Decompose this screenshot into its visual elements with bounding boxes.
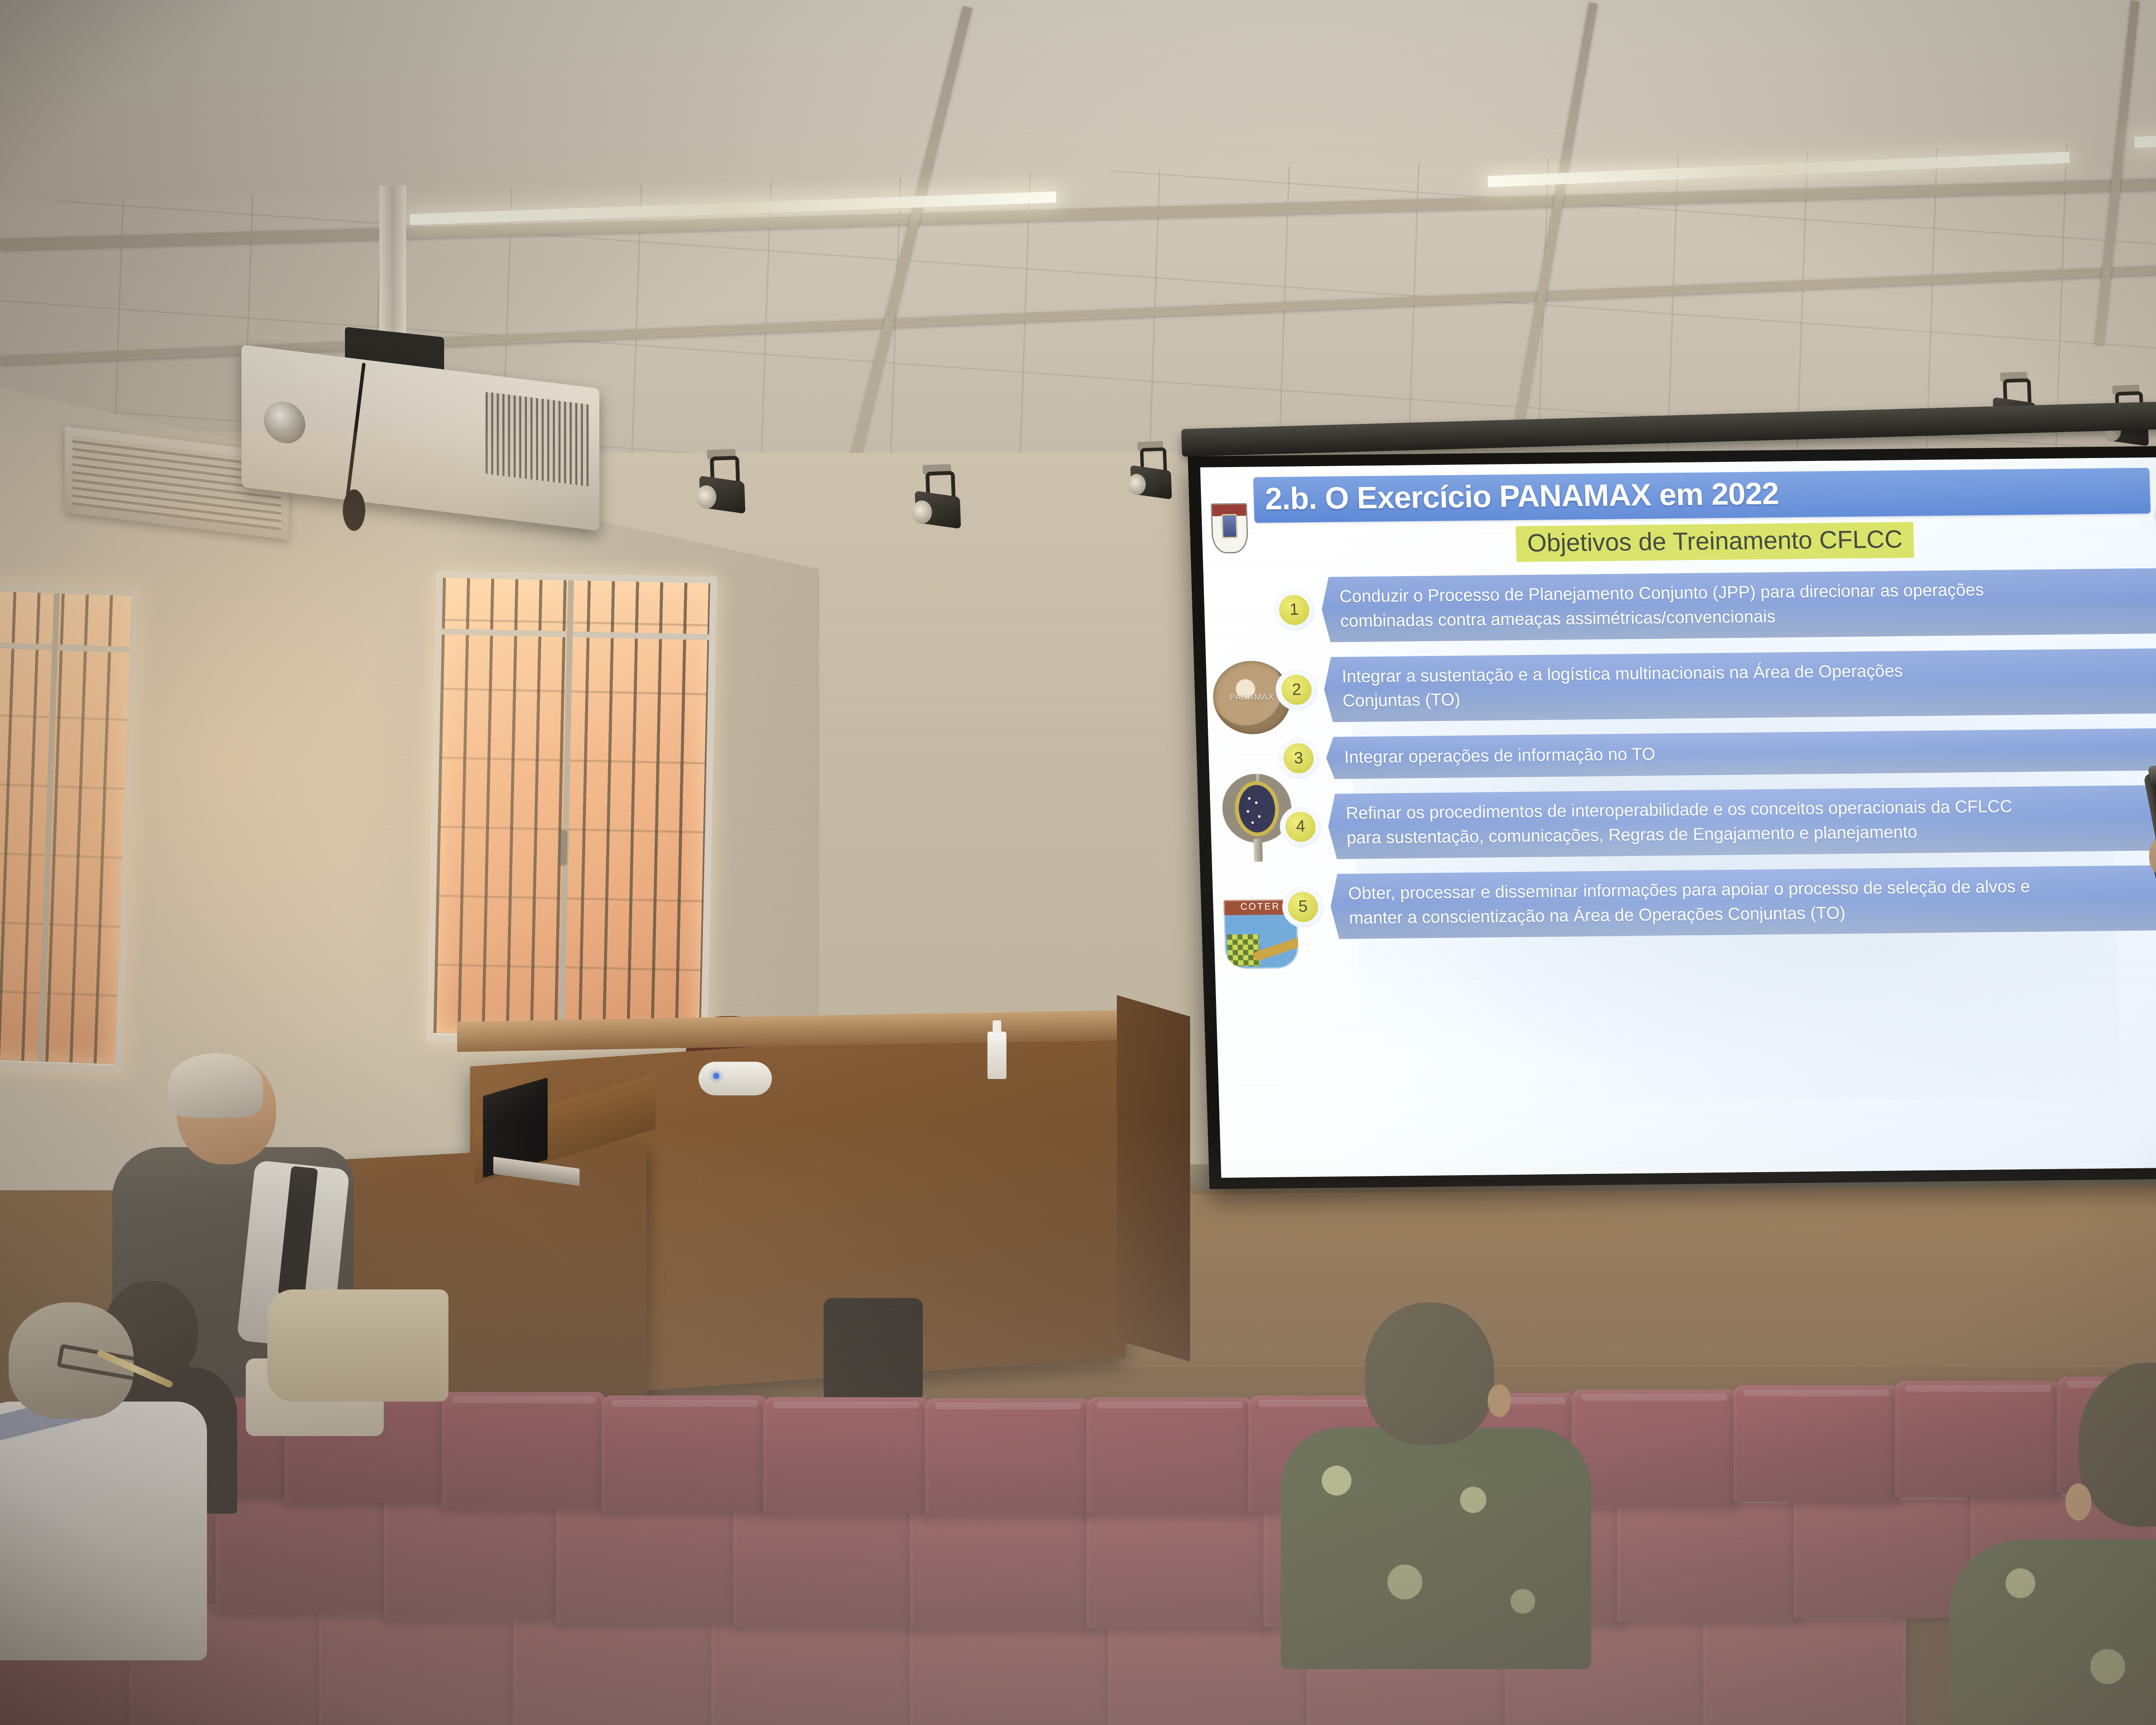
camouflage-uniform — [1281, 1427, 1591, 1669]
window-left-far — [0, 584, 138, 1073]
window-left-main — [426, 571, 718, 1047]
bullet-number: 2 — [1281, 674, 1312, 705]
auditorium-seat[interactable] — [1087, 1397, 1253, 1514]
auditorium-seat[interactable] — [602, 1396, 768, 1512]
bullet-text-bar: Refinar os procedimentos de interoperabi… — [1327, 785, 2156, 859]
attendee-khaki-sleeve — [267, 1289, 448, 1402]
auditorium-seat[interactable] — [733, 1497, 918, 1627]
bullet-number: 5 — [1288, 891, 1319, 922]
auditorium-seat[interactable] — [925, 1398, 1091, 1515]
auditorium-seat[interactable] — [763, 1397, 929, 1514]
window-latch[interactable] — [560, 830, 567, 865]
soldier-ear-left — [2065, 1483, 2091, 1521]
projector-vent-grill — [486, 392, 589, 486]
auditorium-seat[interactable] — [513, 1606, 714, 1725]
slide-bullet-item: 2 Integrar a sustentação e a logística m… — [1316, 648, 2156, 722]
slide-title-bar: 2.b. O Exercício PANAMAX em 2022 — [1253, 468, 2150, 523]
seated-soldier-right — [1958, 1402, 2156, 1725]
coter-checker-pattern — [1227, 934, 1260, 966]
slide-bullet-item: 1 Conduzir o Processo de Planejamento Co… — [1314, 568, 2156, 643]
bullet-line-1: Integrar operações de informação no TO — [1344, 737, 2156, 770]
seated-attendee-white-shirt — [0, 1302, 285, 1690]
open-laptop[interactable] — [483, 1087, 573, 1182]
auditorium-seat[interactable] — [442, 1392, 606, 1509]
slide-title: 2.b. O Exercício PANAMAX em 2022 — [1264, 477, 1779, 516]
bullet-text-bar: Obter, processar e disseminar informaçõe… — [1329, 865, 2156, 939]
projector-mount-pole — [379, 185, 406, 341]
projector-cable-weight — [343, 489, 365, 531]
slide-bullet-list: 1 Conduzir o Processo de Planejamento Co… — [1314, 568, 2156, 939]
auditorium-seat[interactable] — [1703, 1608, 1906, 1725]
soldier-ear — [1488, 1384, 1511, 1417]
camouflage-uniform — [1949, 1540, 2156, 1725]
presentation-slide: 2.b. O Exercício PANAMAX em 2022 Objetiv… — [1200, 457, 2156, 1178]
auditorium-seat[interactable] — [910, 1499, 1095, 1628]
auditorium-seat[interactable] — [319, 1602, 517, 1725]
projection-screen: 2.b. O Exercício PANAMAX em 2022 Objetiv… — [1188, 445, 2156, 1189]
bullet-number: 4 — [1285, 812, 1316, 842]
slide-subtitle-highlight: Objetivos de Treinamento CFLCC — [1516, 522, 1915, 562]
auditorium-seat[interactable] — [1617, 1492, 1802, 1621]
slide-bullet-item: 5 Obter, processar e disseminar informaç… — [1322, 865, 2156, 939]
hand-sanitizer-bottle — [987, 1032, 1006, 1079]
auditorium-seat[interactable] — [711, 1611, 914, 1725]
window-grille — [0, 591, 132, 1066]
lecture-hall-photo: 2.b. O Exercício PANAMAX em 2022 Objetiv… — [0, 0, 2156, 1725]
head-table-side-panel — [1117, 995, 1190, 1361]
auditorium-seat[interactable] — [1087, 1499, 1272, 1628]
bullet-text-bar: Conduzir o Processo de Planejamento Conj… — [1321, 568, 2156, 643]
bullet-number-badge: 1 — [1273, 589, 1316, 631]
elder-hair — [168, 1053, 263, 1118]
eceme-shield-shape — [1222, 514, 1238, 538]
auditorium-seat[interactable] — [1733, 1385, 1899, 1502]
seated-soldier-center — [1272, 1302, 1600, 1690]
panamax-emblem-label: PANAMAX — [1229, 692, 1274, 703]
bullet-text-bar: Integrar a sustentação e a logística mul… — [1323, 648, 2156, 722]
white-device-on-table — [699, 1062, 772, 1095]
bullet-text-bar: Integrar operações de informação no TO — [1326, 728, 2156, 779]
slide-bullet-item: 3 Integrar operações de informação no TO — [1319, 728, 2156, 779]
white-shirt — [0, 1402, 207, 1660]
slide-bullet-item: 4 Refinar os procedimentos de interopera… — [1320, 785, 2156, 859]
bullet-number: 3 — [1283, 743, 1314, 774]
auditorium-seat[interactable] — [910, 1613, 1112, 1725]
eceme-badge-icon — [1211, 503, 1248, 554]
auditorium-seat[interactable] — [384, 1490, 565, 1619]
army-star-handle — [1253, 838, 1263, 862]
device-led-indicator — [713, 1073, 719, 1079]
projection-screen-surface: 2.b. O Exercício PANAMAX em 2022 Objetiv… — [1200, 457, 2156, 1178]
auditorium-seat[interactable] — [556, 1494, 740, 1624]
bullet-number: 1 — [1279, 595, 1310, 625]
slide-subtitle: Objetivos de Treinamento CFLCC — [1527, 525, 1903, 557]
projector-lens — [264, 399, 305, 445]
soldier-head — [1365, 1302, 1494, 1445]
